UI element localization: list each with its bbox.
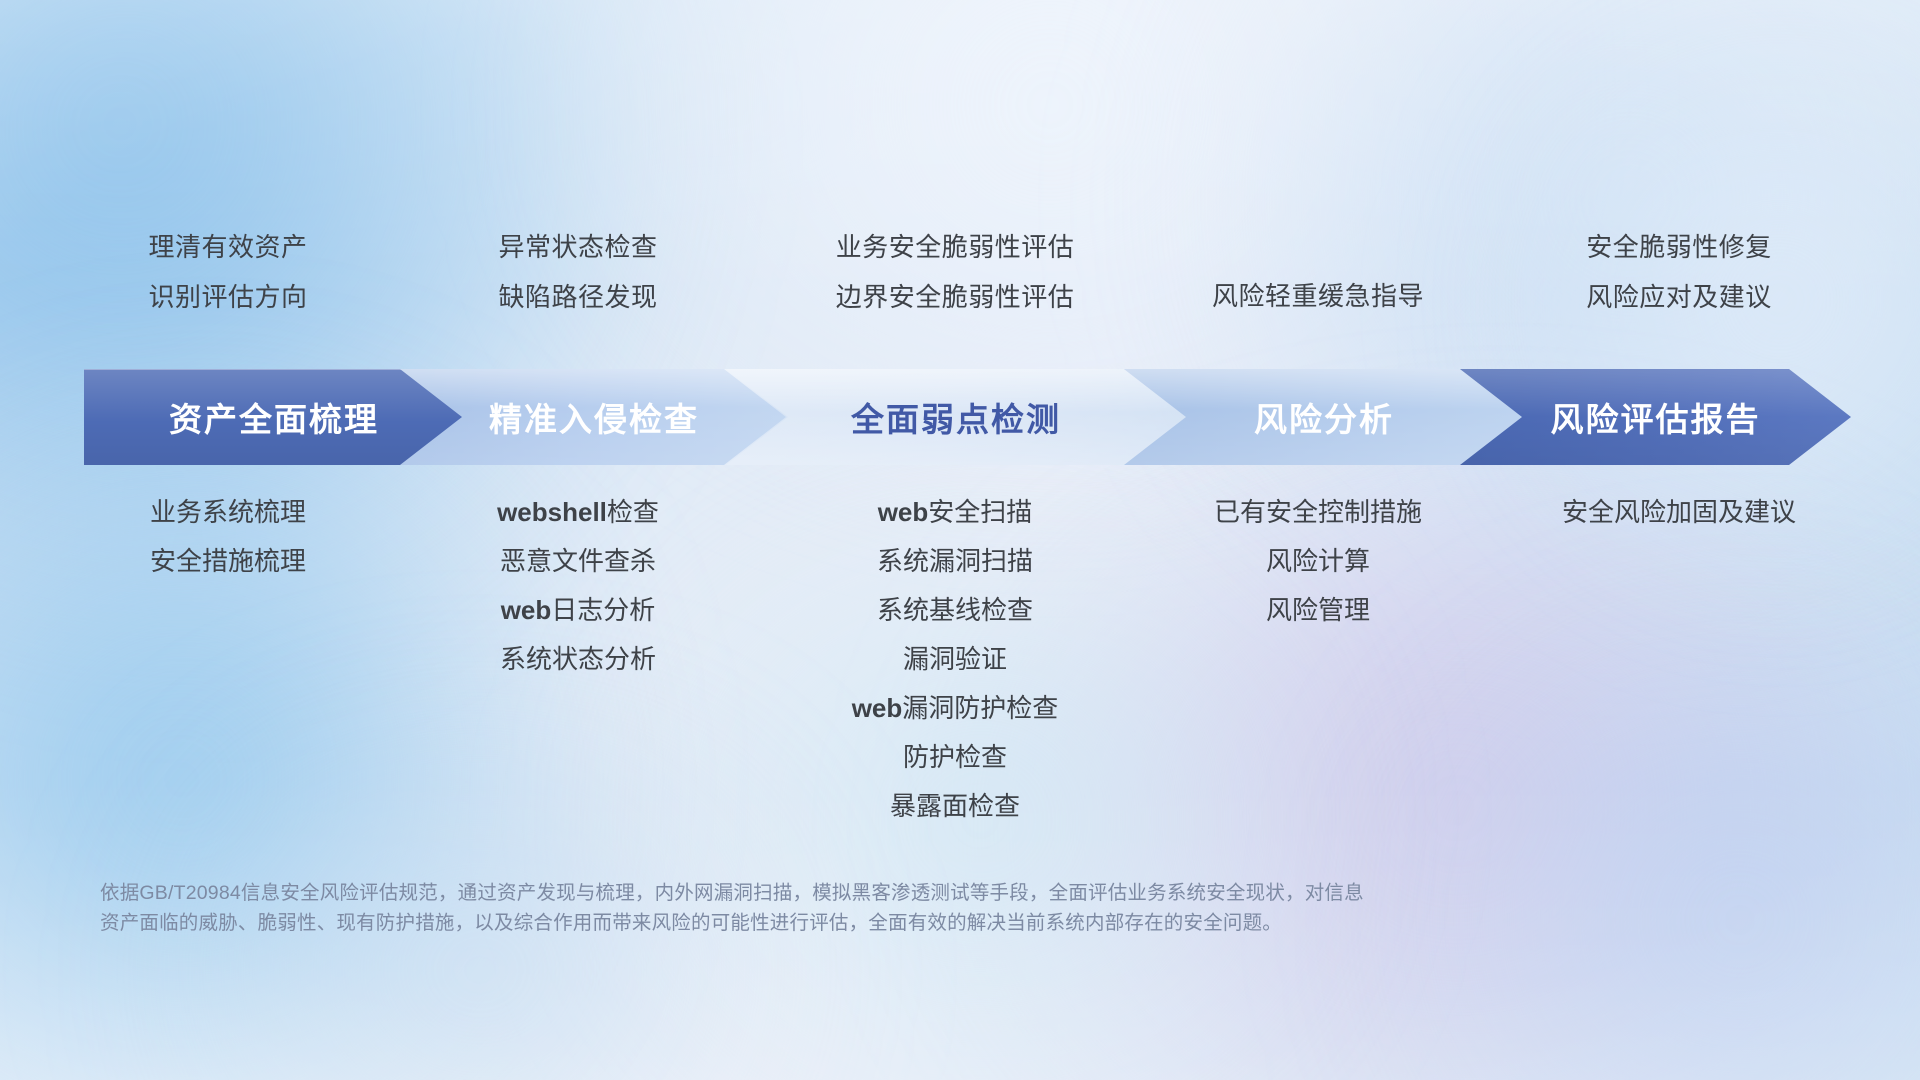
activity-item: 暴露面检查 (745, 782, 1165, 831)
activities-intrusion-check: webshell检查恶意文件查杀web日志分析系统状态分析 (408, 488, 748, 684)
chevron-label: 风险分析 (1254, 393, 1394, 441)
activity-item: 风险计算 (1138, 537, 1498, 586)
activity-item: 系统基线检查 (745, 586, 1165, 635)
activity-item: webshell检查 (408, 488, 748, 537)
outcome-item: 理清有效资产 (58, 222, 398, 272)
outcome-item: 异常状态检查 (408, 222, 748, 272)
chevron-label: 精准入侵检查 (489, 393, 699, 441)
activity-item: 业务系统梳理 (58, 488, 398, 537)
chevron-label: 全面弱点检测 (851, 393, 1061, 441)
footer-line-2: 资产面临的威胁、脆弱性、现有防护措施，以及综合作用而带来风险的可能性进行评估，全… (100, 908, 1660, 938)
activity-item: web漏洞防护检查 (745, 684, 1165, 733)
activities-weakness-detection: web安全扫描系统漏洞扫描系统基线检查漏洞验证web漏洞防护检查防护检查暴露面检… (745, 488, 1165, 831)
top-outcomes-assessment-report: 安全脆弱性修复风险应对及建议 (1499, 222, 1859, 322)
footer-line-1: 依据GB/T20984信息安全风险评估规范，通过资产发现与梳理，内外网漏洞扫描，… (100, 878, 1660, 908)
activity-item: 漏洞验证 (745, 635, 1165, 684)
outcome-item: 边界安全脆弱性评估 (745, 272, 1165, 322)
top-outcomes-risk-analysis: 风险轻重缓急指导 (1138, 271, 1498, 321)
activity-item: 安全措施梳理 (58, 537, 398, 586)
activities-risk-analysis: 已有安全控制措施风险计算风险管理 (1138, 488, 1498, 635)
process-diagram: 理清有效资产识别评估方向 异常状态检查缺陷路径发现 业务安全脆弱性评估边界安全脆… (0, 0, 1920, 1080)
top-outcomes-weakness-detection: 业务安全脆弱性评估边界安全脆弱性评估 (745, 222, 1165, 322)
outcome-item: 安全脆弱性修复 (1499, 222, 1859, 272)
bottom-activities-row: 业务系统梳理安全措施梳理 webshell检查恶意文件查杀web日志分析系统状态… (0, 470, 1920, 850)
activity-item: web安全扫描 (745, 488, 1165, 537)
activity-item: 防护检查 (745, 733, 1165, 782)
chevron-label: 风险评估报告 (1551, 393, 1761, 441)
process-chevron-banner: 资产全面梳理 精准入侵检查 全面弱点检测 风险分析 风险评估报告 (84, 369, 1851, 465)
chevron-stage-assessment-report[interactable]: 风险评估报告 (1460, 369, 1851, 465)
activity-item: 系统漏洞扫描 (745, 537, 1165, 586)
top-outcomes-asset-inventory: 理清有效资产识别评估方向 (58, 222, 398, 322)
outcome-item: 识别评估方向 (58, 272, 398, 322)
outcome-item: 风险轻重缓急指导 (1138, 271, 1498, 321)
top-outcomes-intrusion-check: 异常状态检查缺陷路径发现 (408, 222, 748, 322)
activity-item: 风险管理 (1138, 586, 1498, 635)
outcome-item: 风险应对及建议 (1499, 272, 1859, 322)
top-outcomes-row: 理清有效资产识别评估方向 异常状态检查缺陷路径发现 业务安全脆弱性评估边界安全脆… (0, 0, 1920, 380)
outcome-item: 业务安全脆弱性评估 (745, 222, 1165, 272)
activity-item: web日志分析 (408, 586, 748, 635)
activity-item: 恶意文件查杀 (408, 537, 748, 586)
activity-item: 系统状态分析 (408, 635, 748, 684)
footer-description: 依据GB/T20984信息安全风险评估规范，通过资产发现与梳理，内外网漏洞扫描，… (100, 878, 1660, 938)
activity-item: 已有安全控制措施 (1138, 488, 1498, 537)
outcome-item: 缺陷路径发现 (408, 272, 748, 322)
chevron-label: 资产全面梳理 (169, 393, 379, 441)
activities-asset-inventory: 业务系统梳理安全措施梳理 (58, 488, 398, 586)
activities-assessment-report: 安全风险加固及建议 (1499, 488, 1859, 537)
chevron-stage-weakness-detection[interactable]: 全面弱点检测 (724, 369, 1188, 465)
activity-item: 安全风险加固及建议 (1499, 488, 1859, 537)
